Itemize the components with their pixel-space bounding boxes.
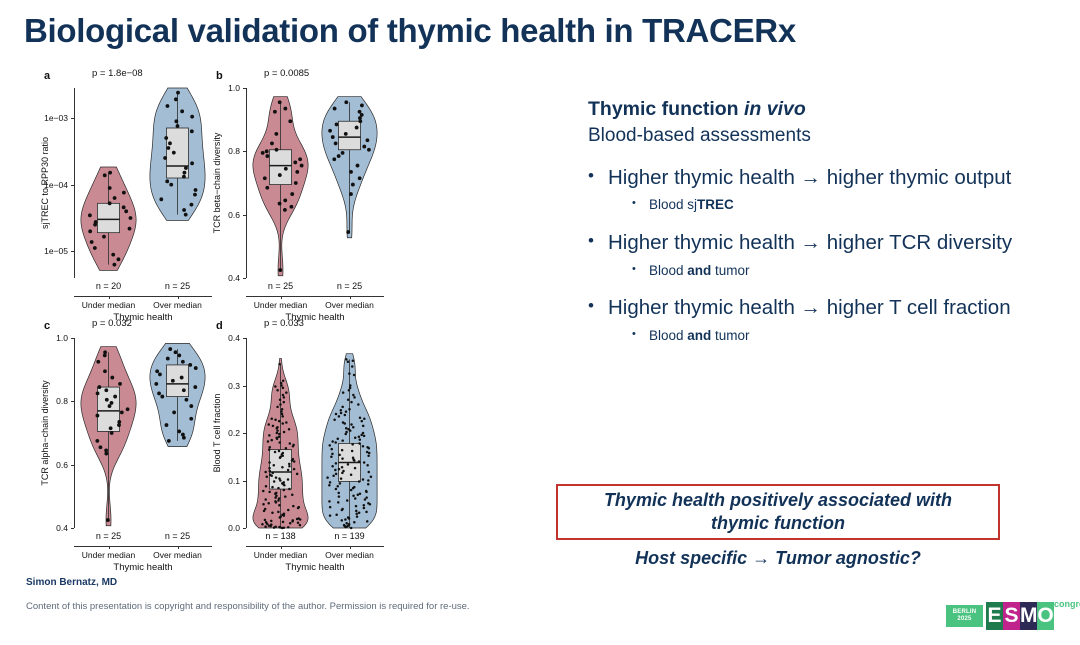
- data-point: [347, 361, 350, 364]
- data-point: [275, 427, 278, 430]
- data-point: [165, 179, 169, 183]
- host-specific-line: Host specific → Tumor agnostic?: [556, 548, 1000, 569]
- data-point: [110, 376, 114, 380]
- data-point: [268, 467, 271, 470]
- data-point: [278, 268, 282, 272]
- data-point: [182, 175, 186, 179]
- data-point: [268, 448, 271, 451]
- data-point: [352, 360, 355, 363]
- sample-size-label: n = 25: [246, 281, 315, 291]
- data-point: [278, 433, 281, 436]
- data-point: [158, 373, 162, 377]
- data-point: [111, 253, 115, 257]
- data-point: [172, 151, 176, 155]
- data-point: [274, 451, 277, 454]
- data-point: [296, 473, 299, 476]
- data-point: [177, 354, 181, 358]
- data-point: [283, 208, 287, 212]
- data-point: [356, 164, 360, 168]
- data-point: [262, 490, 265, 493]
- data-point: [291, 459, 294, 462]
- sample-size-label: n = 25: [74, 531, 143, 541]
- violin-group-under-median: [81, 167, 136, 270]
- data-point: [369, 503, 372, 506]
- data-point: [110, 431, 114, 435]
- data-point: [266, 475, 269, 478]
- data-point: [335, 513, 338, 516]
- data-point: [359, 438, 362, 441]
- data-point: [362, 445, 365, 448]
- data-point: [93, 246, 97, 250]
- data-point: [110, 401, 114, 405]
- data-point: [270, 520, 273, 523]
- data-point: [350, 423, 353, 426]
- data-point: [276, 429, 279, 432]
- data-point: [351, 183, 355, 187]
- data-point: [281, 408, 284, 411]
- data-point: [344, 132, 348, 136]
- data-point: [283, 199, 287, 203]
- data-point: [293, 460, 296, 463]
- data-point: [334, 441, 337, 444]
- data-point: [274, 385, 277, 388]
- data-point: [335, 473, 338, 476]
- data-point: [96, 392, 100, 396]
- data-point: [283, 401, 286, 404]
- data-point: [337, 154, 341, 158]
- data-point: [299, 518, 302, 521]
- data-point: [299, 524, 302, 527]
- data-point: [279, 516, 282, 519]
- data-point: [288, 488, 291, 491]
- bullet-text: Higher thymic health → higher T cell fra…: [608, 295, 1011, 321]
- data-point: [278, 173, 282, 177]
- berlin-2025-badge: BERLIN 2025: [946, 605, 983, 627]
- data-point: [277, 499, 280, 502]
- data-point: [329, 481, 332, 484]
- data-point: [180, 109, 184, 113]
- data-point: [275, 148, 279, 152]
- data-point: [290, 192, 294, 196]
- data-point: [166, 146, 170, 150]
- data-point: [300, 164, 304, 168]
- data-point: [358, 176, 362, 180]
- conclusion-line-1: Thymic health positively associated with: [604, 489, 952, 512]
- figure-panel-grid: ap = 1.8e−08sjTREC to RPP30 ratio1e−031e…: [22, 66, 422, 571]
- data-point: [96, 360, 100, 364]
- data-point: [330, 448, 333, 451]
- data-point: [350, 474, 353, 477]
- data-point: [278, 436, 281, 439]
- bullet-row: •Higher thymic health → higher thymic ou…: [588, 165, 1068, 191]
- data-point: [281, 415, 284, 418]
- data-point: [355, 505, 358, 508]
- data-point: [281, 466, 284, 469]
- data-point: [274, 132, 278, 136]
- sub-bullet-row: •Blood and tumor: [632, 261, 1068, 281]
- data-point: [350, 527, 353, 530]
- data-point: [104, 452, 108, 456]
- box-iqr: [97, 387, 119, 431]
- data-point: [287, 469, 290, 472]
- data-point: [276, 389, 279, 392]
- data-point: [340, 409, 343, 412]
- data-point: [331, 440, 334, 443]
- data-point: [166, 357, 170, 361]
- data-point: [290, 205, 294, 209]
- data-point: [292, 445, 295, 448]
- box-iqr: [338, 121, 360, 150]
- data-point: [361, 420, 364, 423]
- data-point: [168, 141, 172, 145]
- violin-group-under-median: [81, 347, 136, 526]
- sub-bullet-text: Blood and tumor: [649, 326, 750, 346]
- data-point: [287, 526, 290, 529]
- data-point: [108, 186, 112, 190]
- data-point: [279, 479, 282, 482]
- data-point: [113, 395, 117, 399]
- data-point: [280, 410, 283, 413]
- data-point: [362, 425, 365, 428]
- data-point: [281, 413, 284, 416]
- data-point: [352, 494, 355, 497]
- x-tick-mark: [281, 546, 282, 549]
- data-point: [367, 148, 371, 152]
- data-point: [184, 213, 188, 217]
- violin-group-under-median: [253, 358, 308, 529]
- violin-group-over-median: [322, 97, 377, 238]
- data-point: [285, 447, 288, 450]
- data-point: [266, 522, 269, 525]
- data-point: [341, 519, 344, 522]
- berlin-year: 2025: [957, 616, 971, 623]
- data-point: [273, 480, 276, 483]
- data-point: [182, 388, 186, 392]
- data-point: [276, 406, 279, 409]
- data-point: [194, 366, 198, 370]
- chart-panel-b: bp = 0.0085TCR beta−chain diversity1.00.…: [200, 66, 396, 316]
- data-point: [268, 423, 271, 426]
- data-point: [346, 499, 349, 502]
- sub-bullet-text: Blood and tumor: [649, 261, 750, 281]
- data-point: [352, 487, 355, 490]
- data-point: [122, 191, 126, 195]
- bullet-text: Higher thymic health → higher thymic out…: [608, 165, 1011, 191]
- sub-bullet-marker-icon: •: [632, 261, 649, 278]
- data-point: [328, 484, 331, 487]
- data-point: [351, 443, 354, 446]
- data-point: [264, 525, 267, 528]
- data-point: [367, 479, 370, 482]
- data-point: [171, 379, 175, 383]
- slide-root: Biological validation of thymic health i…: [0, 0, 1080, 645]
- data-point: [265, 149, 269, 153]
- data-point: [99, 445, 103, 449]
- data-point: [341, 466, 344, 469]
- data-point: [193, 385, 197, 389]
- data-point: [188, 363, 192, 367]
- bullet-marker-icon: •: [588, 230, 608, 251]
- data-point: [341, 406, 344, 409]
- data-point: [289, 442, 292, 445]
- data-point: [346, 230, 350, 234]
- bullet-row: •Higher thymic health → higher TCR diver…: [588, 230, 1068, 256]
- data-point: [355, 513, 358, 516]
- chart-panel-c: cp = 0.032TCR alpha−chain diversity1.00.…: [28, 316, 224, 566]
- data-point: [273, 110, 277, 114]
- data-point: [168, 347, 172, 351]
- data-point: [334, 469, 337, 472]
- data-point: [359, 417, 362, 420]
- data-point: [353, 459, 356, 462]
- bullet-row: •Higher thymic health → higher T cell fr…: [588, 295, 1068, 321]
- data-point: [174, 119, 178, 123]
- data-point: [368, 447, 371, 450]
- data-point: [363, 418, 366, 421]
- data-point: [282, 521, 285, 524]
- data-point: [102, 235, 106, 239]
- data-point: [278, 441, 281, 444]
- data-point: [190, 203, 194, 207]
- data-point: [341, 151, 345, 155]
- data-point: [287, 478, 290, 481]
- data-point: [358, 110, 362, 114]
- data-point: [183, 171, 187, 175]
- berlin-label: BERLIN: [953, 609, 977, 616]
- esmo-congress-logo: BERLIN 2025 E S M O congress: [946, 597, 1068, 635]
- data-point: [276, 437, 279, 440]
- data-point: [155, 369, 159, 373]
- data-point: [357, 494, 360, 497]
- data-point: [273, 526, 276, 529]
- data-point: [341, 449, 344, 452]
- data-point: [106, 518, 110, 522]
- data-point: [333, 107, 337, 111]
- data-point: [333, 418, 336, 421]
- data-point: [285, 391, 288, 394]
- data-point: [88, 213, 92, 217]
- data-point: [167, 439, 171, 443]
- data-point: [348, 408, 351, 411]
- data-point: [343, 422, 346, 425]
- x-tick-mark: [281, 296, 282, 299]
- data-point: [109, 426, 113, 430]
- sample-size-label: n = 25: [315, 281, 384, 291]
- data-point: [288, 428, 291, 431]
- data-point: [335, 123, 339, 127]
- data-point: [270, 439, 273, 442]
- data-point: [338, 495, 341, 498]
- data-point: [350, 489, 353, 492]
- data-point: [285, 421, 288, 424]
- data-point: [360, 104, 364, 108]
- data-point: [128, 227, 132, 231]
- data-point: [362, 145, 366, 149]
- data-point: [90, 240, 94, 244]
- data-point: [349, 192, 353, 196]
- box-iqr: [166, 365, 188, 397]
- data-point: [118, 382, 122, 386]
- sub-bullet-row: •Blood and tumor: [632, 326, 1068, 346]
- data-point: [284, 495, 287, 498]
- sub-bullet-marker-icon: •: [632, 326, 649, 343]
- data-point: [340, 477, 343, 480]
- data-point: [331, 465, 334, 468]
- data-point: [331, 453, 334, 456]
- data-point: [172, 411, 176, 415]
- data-point: [93, 223, 97, 227]
- data-point: [289, 522, 292, 525]
- data-point: [122, 205, 126, 209]
- data-point: [353, 521, 356, 524]
- data-point: [287, 509, 290, 512]
- data-point: [124, 209, 128, 213]
- data-point: [265, 186, 269, 190]
- x-tick-mark: [178, 296, 179, 299]
- data-point: [288, 465, 291, 468]
- data-point: [272, 472, 275, 475]
- logo-letter-s: S: [1003, 602, 1020, 630]
- data-point: [263, 510, 266, 513]
- data-point: [190, 115, 194, 119]
- data-point: [370, 475, 373, 478]
- data-point: [281, 422, 284, 425]
- data-point: [366, 138, 370, 142]
- data-point: [174, 350, 178, 354]
- logo-letter-m: M: [1020, 602, 1037, 630]
- data-point: [278, 450, 281, 453]
- data-point: [363, 461, 366, 464]
- right-text-column: Thymic function in vivo Blood-based asse…: [588, 96, 1068, 345]
- data-point: [332, 157, 336, 161]
- data-point: [270, 475, 273, 478]
- data-point: [271, 486, 274, 489]
- box-iqr: [97, 203, 119, 232]
- data-point: [358, 512, 361, 515]
- data-point: [339, 482, 342, 485]
- data-point: [264, 519, 267, 522]
- data-point: [337, 492, 340, 495]
- data-point: [267, 502, 270, 505]
- chart-panel-a: ap = 1.8e−08sjTREC to RPP30 ratio1e−031e…: [28, 66, 224, 316]
- data-point: [366, 520, 369, 523]
- data-point: [117, 257, 121, 261]
- data-point: [270, 142, 274, 146]
- data-point: [120, 411, 124, 415]
- data-point: [283, 431, 286, 434]
- data-point: [108, 404, 112, 408]
- data-point: [282, 394, 285, 397]
- data-point: [345, 410, 348, 413]
- x-tick-label: Over median: [309, 550, 390, 560]
- data-point: [332, 475, 335, 478]
- data-point: [352, 426, 355, 429]
- data-point: [291, 520, 294, 523]
- data-point: [337, 501, 340, 504]
- data-point: [103, 354, 107, 358]
- x-tick-mark: [350, 546, 351, 549]
- data-point: [365, 496, 368, 499]
- data-point: [363, 507, 366, 510]
- data-point: [112, 263, 116, 267]
- data-point: [355, 510, 358, 513]
- data-point: [334, 142, 338, 146]
- logo-letter-e: E: [986, 602, 1003, 630]
- data-point: [261, 523, 264, 526]
- x-tick-mark: [109, 296, 110, 299]
- data-point: [337, 437, 340, 440]
- data-point: [338, 454, 341, 457]
- violin-plot-svg: [200, 66, 396, 316]
- bullet-marker-icon: •: [588, 295, 608, 316]
- chart-panel-d: dp = 0.033Blood T cell fraction0.40.30.2…: [200, 316, 396, 566]
- x-axis-title: Thymic health: [246, 562, 384, 573]
- data-point: [338, 415, 341, 418]
- data-point: [331, 135, 335, 139]
- box-iqr: [269, 150, 291, 185]
- data-point: [356, 515, 359, 518]
- data-point: [328, 129, 332, 133]
- violin-plot-svg: [200, 316, 396, 566]
- data-point: [368, 471, 371, 474]
- data-point: [326, 476, 329, 479]
- x-axis-title: Thymic health: [74, 562, 212, 573]
- data-point: [347, 399, 350, 402]
- data-point: [169, 183, 173, 187]
- violin-group-over-median: [322, 354, 377, 530]
- section-heading-2: Blood-based assessments: [588, 122, 1068, 150]
- data-point: [352, 394, 355, 397]
- data-point: [174, 97, 178, 101]
- data-point: [341, 472, 344, 475]
- data-point: [358, 119, 362, 123]
- data-point: [96, 414, 100, 418]
- sub-bullet-text: Blood sjTREC: [649, 195, 734, 215]
- x-tick-mark: [109, 546, 110, 549]
- data-point: [154, 382, 158, 386]
- data-point: [354, 467, 357, 470]
- data-point: [97, 385, 101, 389]
- data-point: [363, 504, 366, 507]
- data-point: [274, 496, 277, 499]
- data-point: [279, 399, 282, 402]
- data-point: [176, 124, 180, 128]
- data-point: [273, 464, 276, 467]
- data-point: [349, 384, 352, 387]
- data-point: [344, 518, 347, 521]
- data-point: [338, 468, 341, 471]
- violin-plot-svg: [28, 316, 224, 566]
- data-point: [182, 436, 186, 440]
- data-point: [284, 167, 288, 171]
- data-point: [108, 171, 112, 175]
- data-point: [355, 126, 359, 130]
- data-point: [166, 104, 170, 108]
- data-point: [105, 398, 109, 402]
- data-point: [344, 414, 347, 417]
- data-point: [163, 156, 167, 160]
- data-point: [268, 491, 271, 494]
- data-point: [281, 527, 284, 530]
- data-point: [351, 365, 354, 368]
- data-point: [335, 462, 338, 465]
- data-point: [264, 498, 267, 501]
- data-point: [344, 433, 347, 436]
- conclusion-line-2: thymic function: [604, 512, 952, 535]
- bullet-text: Higher thymic health → higher TCR divers…: [608, 230, 1012, 256]
- data-point: [182, 208, 186, 212]
- heading-italic: in vivo: [744, 98, 806, 120]
